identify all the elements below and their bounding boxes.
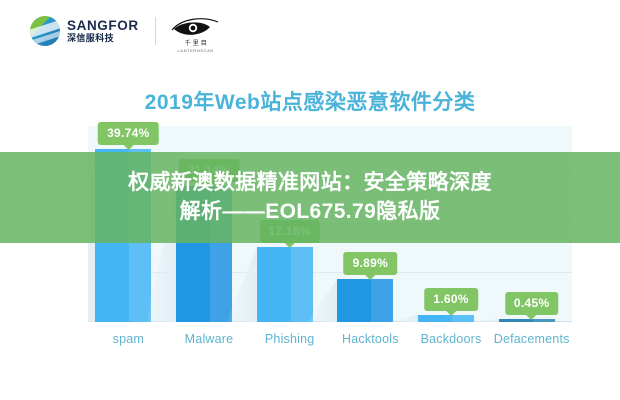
x-label-phishing: Phishing	[265, 332, 315, 346]
x-label-backdoors: Backdoors	[421, 332, 482, 346]
chart-title: 2019年Web站点感染恶意软件分类	[0, 86, 620, 116]
headline-line-2: 解析——EOL675.79隐私版	[180, 198, 441, 226]
eye-label-cn: 千里目	[174, 41, 220, 47]
eye-glyph	[170, 16, 222, 38]
sangfor-name-en: SANGFOR	[67, 19, 139, 33]
eye-label-en: LANTERNSCAN	[170, 49, 222, 53]
brand-header: SANGFOR 深信服科技 千里目 LANTERNSCAN	[0, 0, 620, 62]
value-label-spam: 39.74%	[98, 122, 159, 145]
value-label-defacements: 0.45%	[505, 292, 559, 315]
infographic-root: SANGFOR 深信服科技 千里目 LANTERNSCAN 2019年Web站点…	[0, 0, 620, 400]
bar-hacktools[interactable]	[337, 279, 393, 322]
headline-overlay-banner: 权威新澳数据精准网站：安全策略深度 解析——EOL675.79隐私版	[0, 152, 620, 243]
bar-phishing[interactable]	[257, 247, 313, 322]
headline-line-1: 权威新澳数据精准网站：安全策略深度	[128, 169, 492, 197]
sangfor-wordmark: SANGFOR 深信服科技	[67, 19, 139, 44]
brand-logo-group: SANGFOR 深信服科技 千里目 LANTERNSCAN	[30, 16, 222, 46]
sangfor-globe-icon	[30, 16, 60, 46]
value-label-hacktools: 9.89%	[344, 252, 398, 275]
brand-divider	[155, 17, 156, 45]
x-label-malware: Malware	[185, 332, 234, 346]
bar-highlight	[371, 279, 393, 322]
x-label-defacements: Defacements	[494, 332, 570, 346]
x-axis-labels: spamMalwarePhishingHacktoolsBackdoorsDef…	[88, 332, 572, 356]
x-label-spam: spam	[113, 332, 144, 346]
bar-highlight	[291, 247, 313, 322]
value-label-backdoors: 1.60%	[424, 288, 478, 311]
sangfor-name-cn: 深信服科技	[67, 34, 139, 43]
bar-highlight	[452, 315, 474, 322]
eye-icon: 千里目 LANTERNSCAN	[170, 16, 222, 46]
bar-backdoors[interactable]	[418, 315, 474, 322]
x-label-hacktools: Hacktools	[342, 332, 399, 346]
